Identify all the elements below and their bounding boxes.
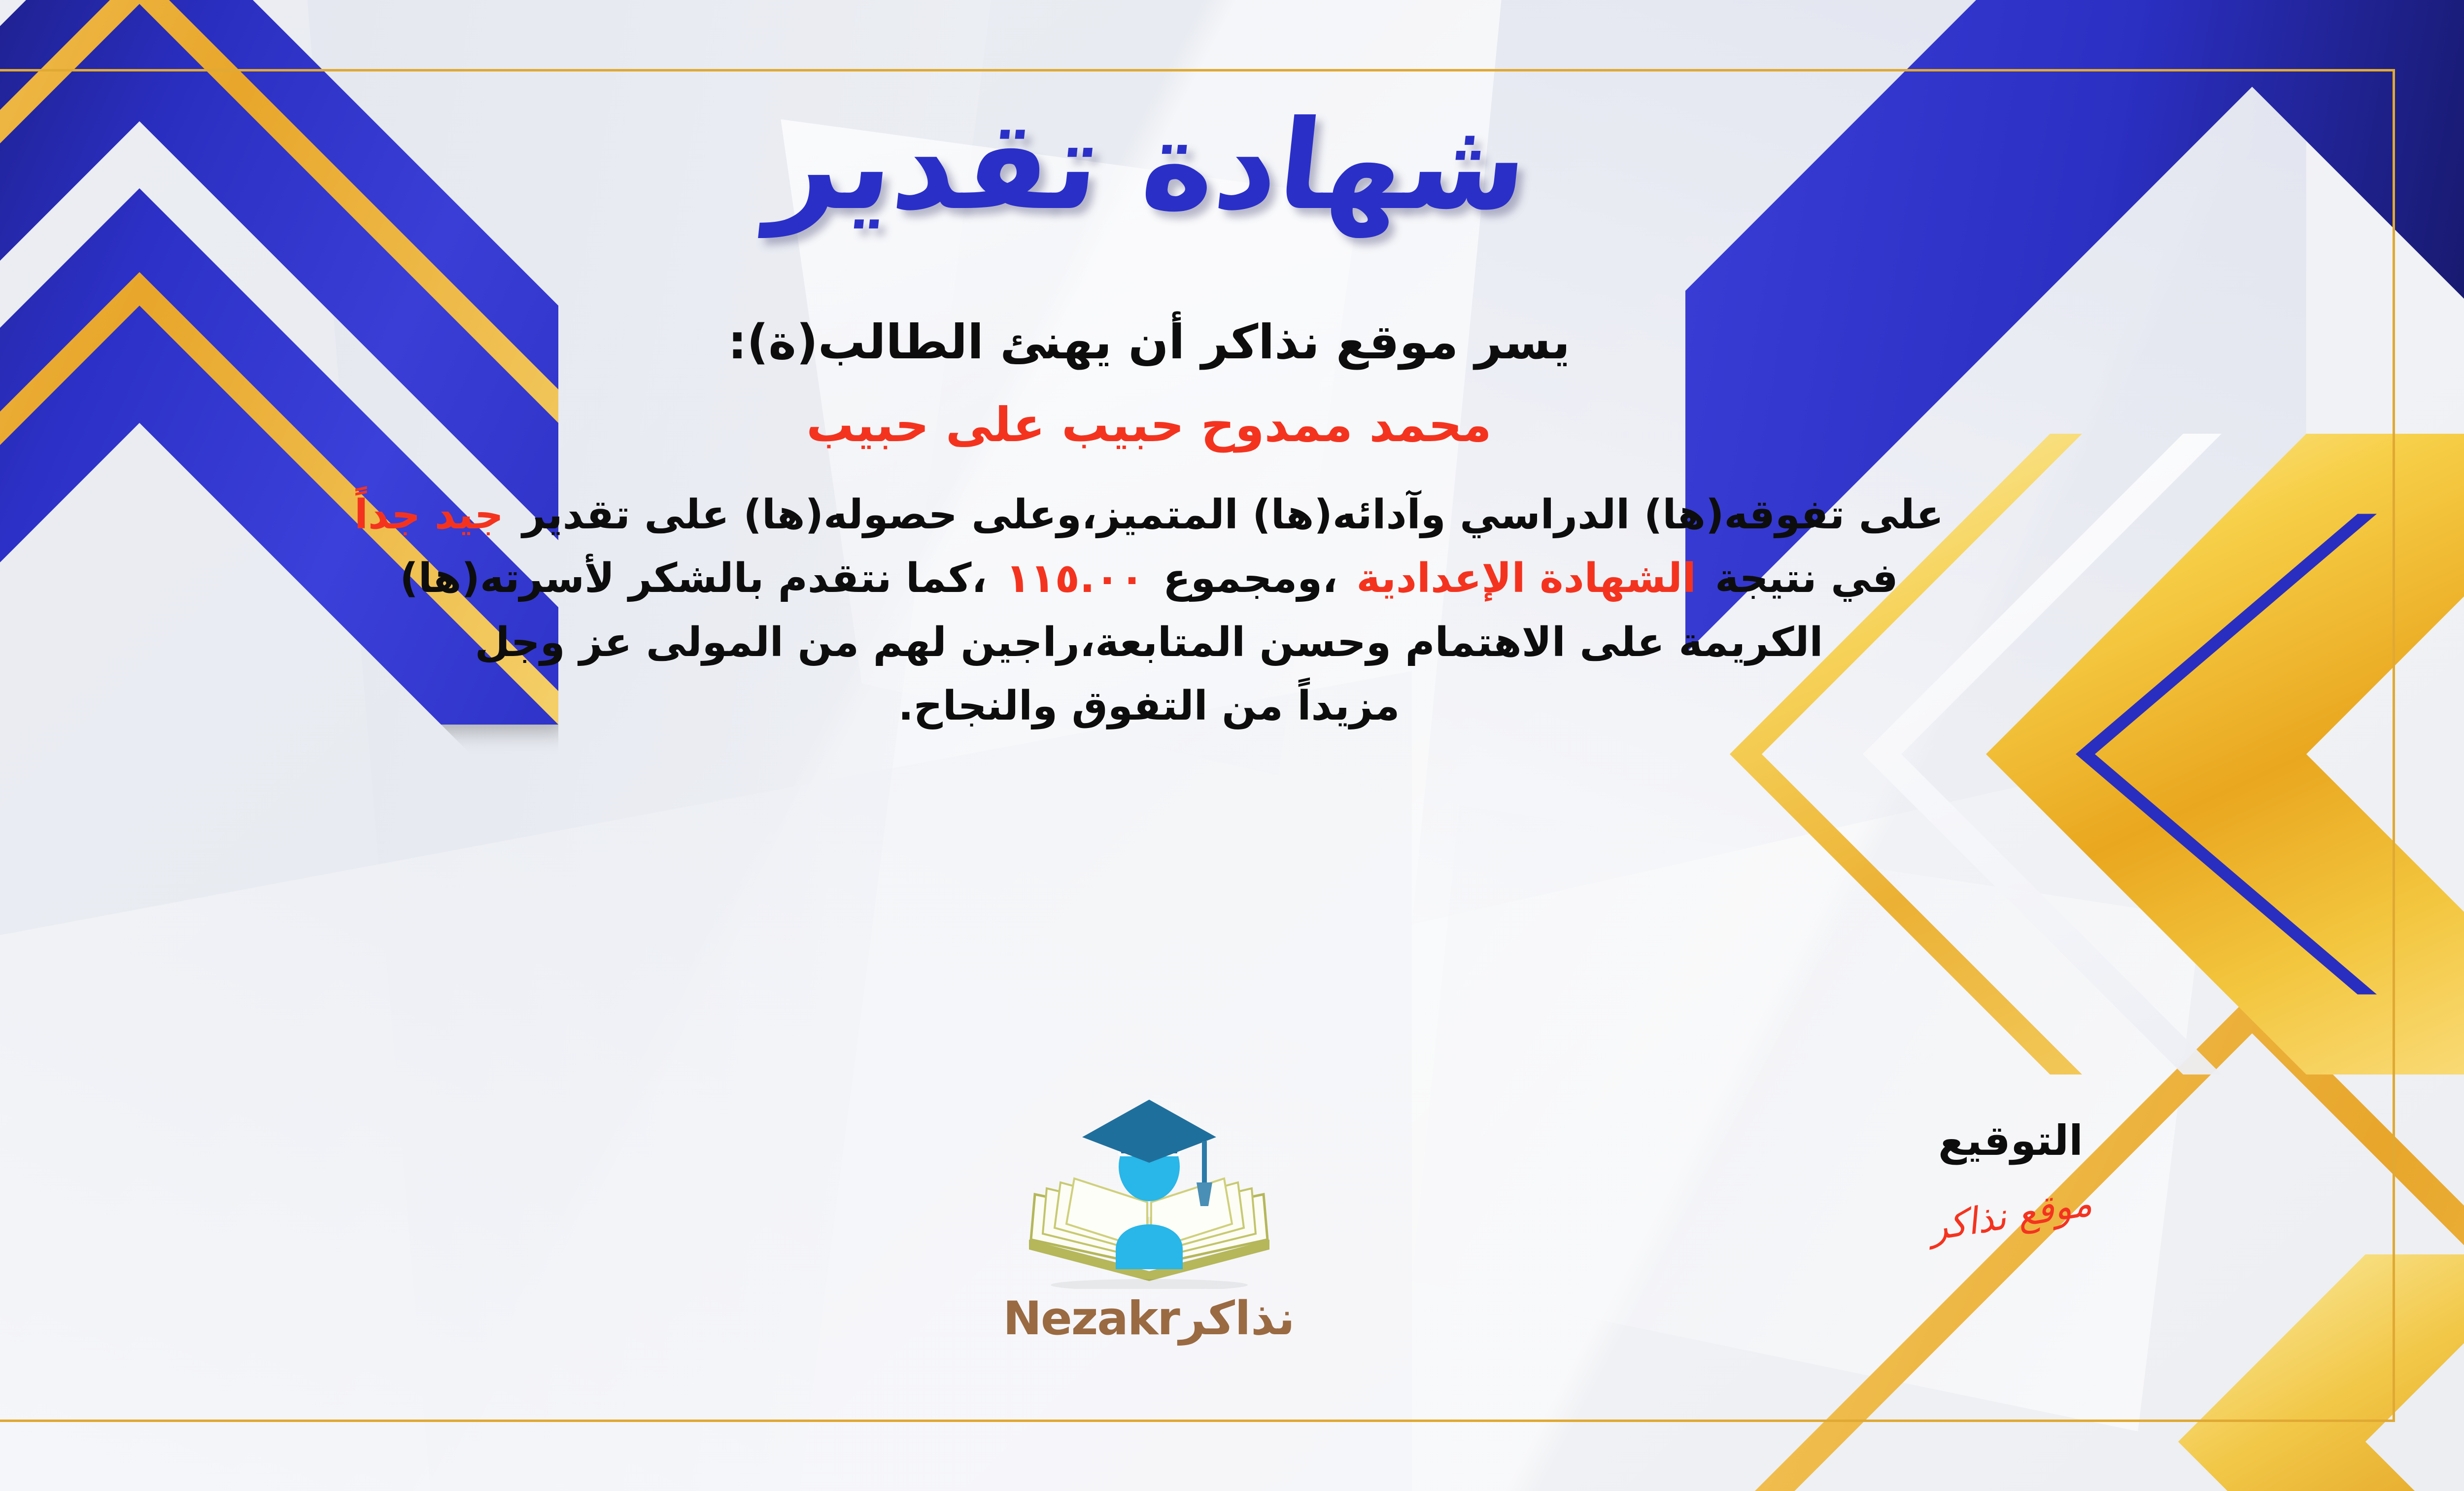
signature-label: التوقيع bbox=[1863, 1116, 2158, 1165]
body-line-2-prefix: في نتيجة bbox=[1715, 555, 1898, 602]
logo-wordmark: نذاكرNezakr bbox=[962, 1292, 1336, 1346]
logo-shadow bbox=[1051, 1279, 1248, 1289]
logo-name-latin: Nezakr bbox=[1003, 1292, 1179, 1346]
body-line-2-suffix: ،كما نتقدم بالشكر لأسرته(ها) bbox=[400, 555, 987, 602]
signature-mark: موقع نذاكر bbox=[1926, 1182, 2095, 1249]
body-line-1-text: على تفوقه(ها) الدراسي وآدائه(ها) المتميز… bbox=[522, 491, 1944, 538]
signature-block: التوقيع موقع نذاكر bbox=[1863, 1116, 2158, 1237]
body-line-3: الكريمة على الاهتمام وحسن المتابعة،راجين… bbox=[0, 611, 2306, 675]
certificate-body: على تفوقه(ها) الدراسي وآدائه(ها) المتميز… bbox=[0, 483, 2306, 738]
total-score: ١١٥.٠٠ bbox=[987, 555, 1163, 602]
cap-board bbox=[1082, 1100, 1216, 1163]
logo-graphic bbox=[1011, 1092, 1287, 1289]
exam-name: الشهادة الإعدادية bbox=[1337, 555, 1715, 602]
certificate-footer: التوقيع موقع نذاكر bbox=[0, 1087, 2464, 1432]
student-name: محمد ممدوح حبيب على حبيب bbox=[806, 397, 1492, 452]
certificate-page: شهادة تقدير يسر موقع نذاكر أن يهنئ الطال… bbox=[0, 0, 2464, 1491]
body-line-2: في نتيجةالشهادة الإعدادية،ومجموع١١٥.٠٠،ك… bbox=[0, 547, 2306, 611]
grade-value: جيد جداً bbox=[354, 491, 522, 538]
nezakr-logo: نذاكرNezakr bbox=[962, 1092, 1336, 1346]
body-line-1: على تفوقه(ها) الدراسي وآدائه(ها) المتميز… bbox=[0, 483, 2306, 547]
logo-name-arabic: نذاكر bbox=[1179, 1292, 1295, 1346]
body-line-2-total-label: ،ومجموع bbox=[1163, 555, 1337, 602]
certificate-title: شهادة تقدير bbox=[764, 101, 1534, 231]
student-body bbox=[1116, 1224, 1183, 1269]
greeting-line: يسر موقع نذاكر أن يهنئ الطالب(ة): bbox=[728, 314, 1570, 370]
body-line-4: مزيداً من التفوق والنجاح. bbox=[0, 674, 2306, 738]
